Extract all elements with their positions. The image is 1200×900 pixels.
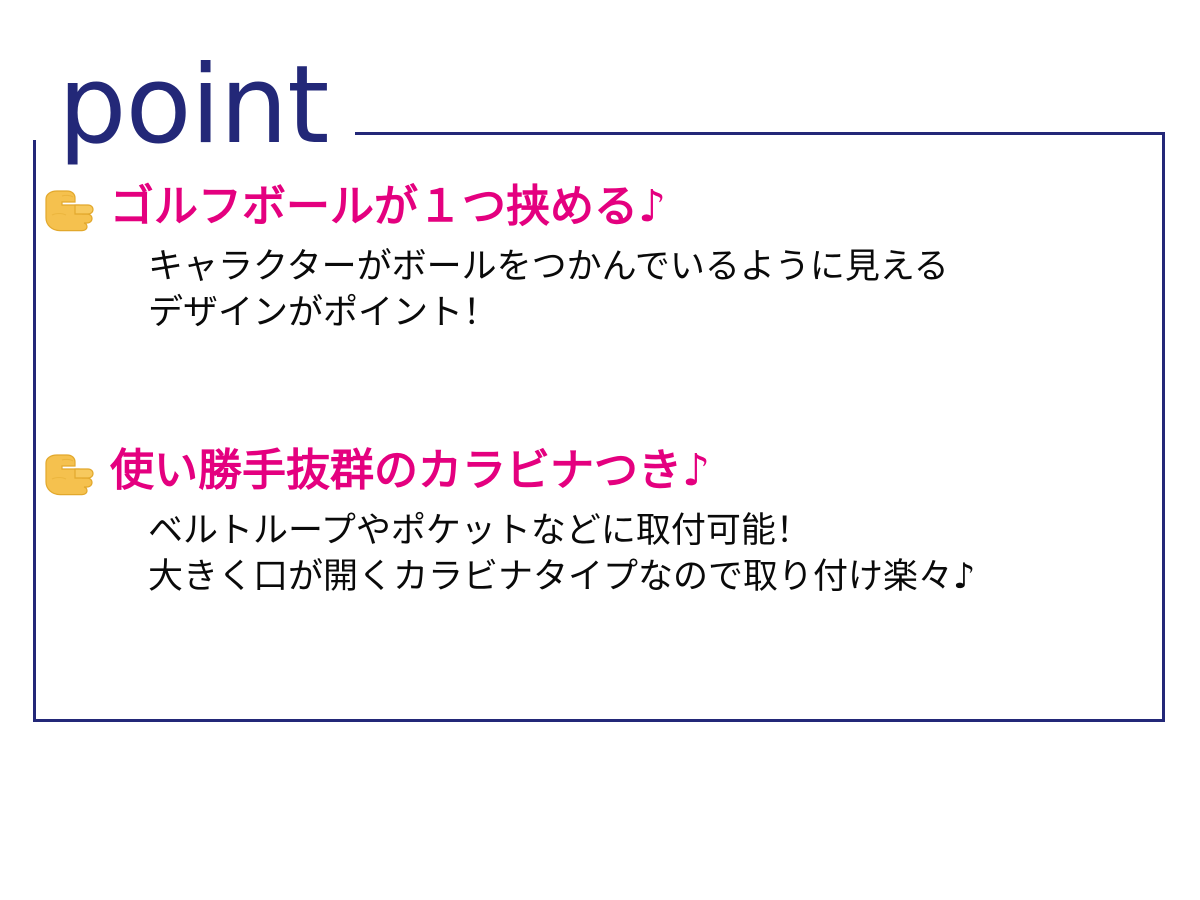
point-block: 使い勝手抜群のカラビナつき♪ ベルトループやポケットなどに取付可能！ 大きく口が… — [40, 447, 1160, 600]
point-body-line: デザインがポイント！ — [148, 291, 1160, 337]
page-title: point — [58, 52, 328, 160]
point-body: キャラクターがボールをつかんでいるように見える デザインがポイント！ — [148, 245, 1160, 336]
point-body-line: 大きく口が開くカラビナタイプなので取り付け楽々♪ — [148, 555, 1160, 601]
point-body-line: キャラクターがボールをつかんでいるように見える — [148, 245, 1160, 291]
point-headline-row: 使い勝手抜群のカラビナつき♪ — [40, 447, 1160, 495]
slide-canvas: point ゴルフボールが１つ挟める♪ キャ — [0, 0, 1200, 900]
point-headline: 使い勝手抜群のカラビナつき♪ — [110, 448, 710, 494]
point-body-line: ベルトループやポケットなどに取付可能！ — [148, 509, 1160, 555]
pointing-right-hand-icon — [40, 449, 96, 497]
pointing-right-hand-icon — [40, 185, 96, 233]
point-headline: ゴルフボールが１つ挟める♪ — [110, 184, 666, 230]
point-body: ベルトループやポケットなどに取付可能！ 大きく口が開くカラビナタイプなので取り付… — [148, 509, 1160, 600]
point-headline-row: ゴルフボールが１つ挟める♪ — [40, 183, 1160, 231]
point-block: ゴルフボールが１つ挟める♪ キャラクターがボールをつかんでいるように見える デザ… — [40, 183, 1160, 336]
